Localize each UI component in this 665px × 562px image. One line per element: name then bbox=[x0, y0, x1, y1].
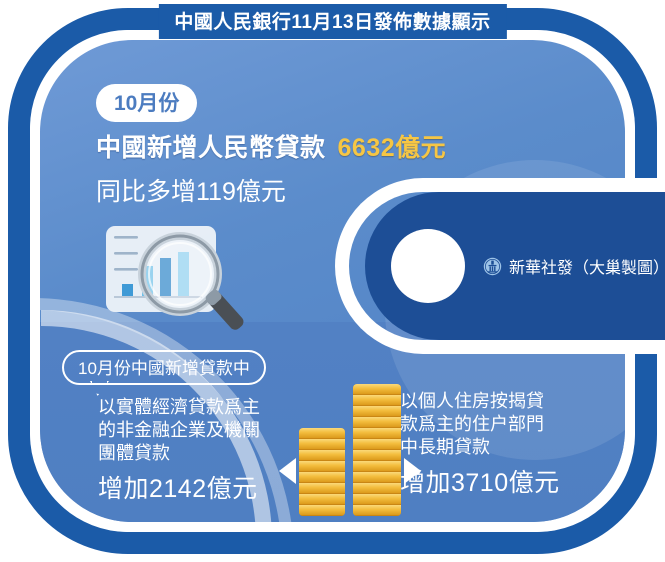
coin bbox=[353, 417, 401, 428]
coin-stack-left bbox=[299, 428, 345, 516]
coin bbox=[299, 461, 345, 472]
infographic-root: 中國人民銀行11月13日發佈數據顯示 新華社發（大巢製圖） 10月份 中國新增人… bbox=[0, 0, 665, 562]
stat-block-enterprise: 以實體經濟貸款爲主 的非金融企業及機關 團體貸款 增加2142億元 bbox=[98, 396, 283, 505]
coin-stack-right bbox=[353, 384, 401, 516]
arrow-right-icon bbox=[404, 458, 421, 484]
headline-label: 中國新增人民幣貸款 bbox=[96, 134, 326, 162]
coin bbox=[353, 428, 401, 439]
coin bbox=[299, 439, 345, 450]
chart-magnifier-illustration bbox=[100, 222, 260, 347]
coin bbox=[299, 450, 345, 461]
coin bbox=[299, 472, 345, 483]
headline-amount: 6632億元 bbox=[338, 134, 447, 162]
page-title: 中國人民銀行11月13日發佈數據顯示 bbox=[158, 4, 506, 39]
coin bbox=[353, 461, 401, 472]
arrow-left-icon bbox=[279, 458, 296, 484]
headline-subline: 同比多增119億元 bbox=[96, 172, 286, 208]
headline: 中國新增人民幣貸款6632億元 bbox=[96, 128, 446, 164]
stat-value: 增加2142億元 bbox=[98, 469, 283, 505]
coin bbox=[353, 450, 401, 461]
stat-block-household: 以個人住房按揭貸 款爲主的住户部門 中長期貸款 增加3710億元 bbox=[400, 390, 580, 499]
loop-shape-panel: 新華社發（大巢製圖） bbox=[365, 192, 665, 340]
coin bbox=[353, 439, 401, 450]
coin bbox=[353, 494, 401, 505]
xinhua-logo-icon bbox=[483, 257, 502, 276]
coin bbox=[353, 483, 401, 494]
coin-stacks bbox=[295, 388, 405, 516]
stat-value: 增加3710億元 bbox=[400, 463, 580, 499]
coin bbox=[299, 428, 345, 439]
coin bbox=[353, 395, 401, 406]
breakdown-bubble-label: 10月份中國新增貸款中 bbox=[62, 350, 266, 385]
coin bbox=[353, 384, 401, 395]
stat-description: 以實體經濟貸款爲主 的非金融企業及機關 團體貸款 bbox=[98, 396, 283, 465]
coin bbox=[299, 494, 345, 505]
credit-text: 新華社發（大巢製圖） bbox=[509, 254, 665, 278]
loop-inner-hole bbox=[391, 229, 465, 303]
coin bbox=[353, 472, 401, 483]
coin bbox=[299, 483, 345, 494]
coin bbox=[299, 505, 345, 516]
coin bbox=[353, 505, 401, 516]
month-badge: 10月份 bbox=[96, 84, 197, 122]
coin bbox=[353, 406, 401, 417]
credit-line: 新華社發（大巢製圖） bbox=[483, 254, 665, 278]
stat-description: 以個人住房按揭貸 款爲主的住户部門 中長期貸款 bbox=[400, 390, 580, 459]
